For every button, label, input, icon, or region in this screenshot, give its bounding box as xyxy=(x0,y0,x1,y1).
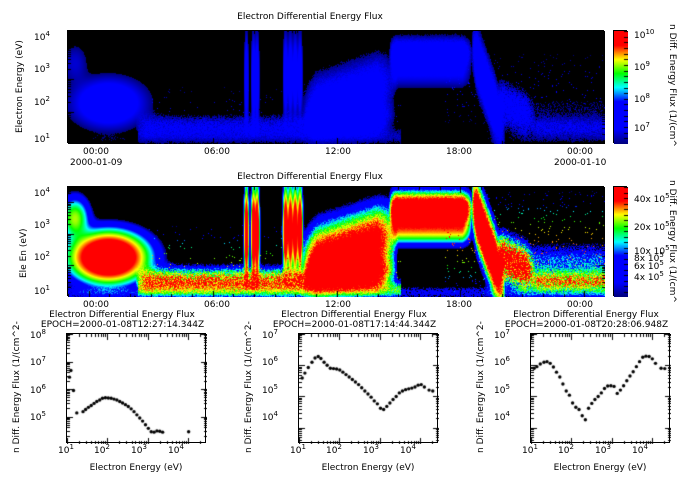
panel-spectrum-3-ylabel: n Diff. Energy Flux (1/(cm^2- xyxy=(477,321,486,453)
panel-spectrum-2-ylabel: n Diff. Energy Flux (1/(cm^2- xyxy=(245,321,254,453)
panel-spectrum-1-ylabel: n Diff. Energy Flux (1/(cm^2- xyxy=(13,321,22,453)
panel-spectrum-2-xtick-4: 104 xyxy=(400,447,416,456)
panel-top-ytick-1: 101 xyxy=(34,136,50,145)
panel-middle-ytick-3: 103 xyxy=(34,222,50,231)
panel-top-ylabel: Electron Energy (eV) xyxy=(16,40,25,133)
panel-top-xtick-1: 06:00 xyxy=(204,148,230,157)
panel-spectrum-1-ytick-8: 108 xyxy=(30,332,46,341)
panel-top-colorbar-label: n Diff. Energy Flux (1/(cm^ xyxy=(667,24,676,147)
panel-spectrum-3-ytick-6: 106 xyxy=(494,359,510,368)
panel-spectrum-3-xtick-1: 101 xyxy=(522,447,538,456)
panel-middle-colorbar-label: n Diff. Energy Flux (1/(cm^ xyxy=(667,180,676,303)
panel-spectrum-1-ytick-6: 106 xyxy=(30,387,46,396)
panel-spectrum-2-plot-area xyxy=(298,333,438,443)
panel-top-xtick-0: 00:00 xyxy=(83,148,109,157)
panel-middle-ytick-4: 104 xyxy=(34,190,50,199)
panel-spectrum-3-xlabel: Electron Energy (eV) xyxy=(520,463,680,473)
panel-middle-title: Electron Differential Energy Flux xyxy=(0,172,620,182)
panel-middle-cbtick-20: 20x 105 xyxy=(634,224,670,233)
panel-top: Electron Differential Energy Flux Electr… xyxy=(0,0,697,172)
panel-top-xtick-4: 00:00 xyxy=(567,148,593,157)
panel-spectrum-2-title: Electron Differential Energy Flux xyxy=(254,310,454,320)
panel-spectrum-3-plot-area xyxy=(530,333,670,443)
panel-spectrum-3: Electron Differential Energy Flux EPOCH=… xyxy=(464,305,697,492)
panel-spectrum-2-ytick-4: 104 xyxy=(262,414,278,423)
panel-top-cbtick-10: 1010 xyxy=(634,32,654,41)
panel-top-xtick-2: 12:00 xyxy=(325,148,351,157)
panel-top-title: Electron Differential Energy Flux xyxy=(0,12,620,22)
panel-top-plot-area xyxy=(67,30,604,143)
panel-spectrum-1-ytick-5: 105 xyxy=(30,414,46,423)
panel-top-cbtick-8: 108 xyxy=(634,96,650,105)
panel-top-colorbar xyxy=(613,30,627,143)
panel-spectrum-3-ytick-4: 104 xyxy=(494,414,510,423)
panel-spectrum-3-title: Electron Differential Energy Flux xyxy=(486,310,686,320)
panel-spectrum-3-xtick-2: 102 xyxy=(558,447,574,456)
panel-middle-cbtick-4: 4x 105 xyxy=(634,274,664,283)
panel-spectrum-2-ytick-7: 107 xyxy=(262,332,278,341)
panel-top-ytick-4: 104 xyxy=(34,34,50,43)
panel-spectrum-1-xlabel: Electron Energy (eV) xyxy=(56,463,216,473)
panel-top-cbtick-7: 107 xyxy=(634,125,650,134)
panel-spectrum-1-xtick-3: 103 xyxy=(131,447,147,456)
panel-spectrum-1-xtick-2: 102 xyxy=(94,447,110,456)
panel-spectrum-1-xtick-1: 101 xyxy=(58,447,74,456)
panel-spectrum-2: Electron Differential Energy Flux EPOCH=… xyxy=(232,305,464,492)
panel-middle: Electron Differential Energy Flux Ele En… xyxy=(0,160,697,320)
panel-top-ytick-3: 103 xyxy=(34,66,50,75)
panel-spectrum-3-xtick-4: 104 xyxy=(632,447,648,456)
panel-spectrum-2-xtick-3: 103 xyxy=(363,447,379,456)
panel-middle-ytick-2: 102 xyxy=(34,254,50,263)
panel-middle-ylabel: Ele En (eV) xyxy=(20,228,29,278)
panel-spectrum-1: Electron Differential Energy Flux EPOCH=… xyxy=(0,305,232,492)
panel-middle-colorbar xyxy=(613,186,627,296)
panel-spectrum-1-xtick-4: 104 xyxy=(168,447,184,456)
panel-spectrum-1-title: Electron Differential Energy Flux xyxy=(22,310,222,320)
panel-spectrum-1-ytick-7: 107 xyxy=(30,359,46,368)
panel-top-cbtick-9: 109 xyxy=(634,64,650,73)
panel-middle-cbtick-40: 40x 105 xyxy=(634,196,670,205)
panel-spectrum-3-ytick-7: 107 xyxy=(494,332,510,341)
panel-middle-plot-area xyxy=(67,186,604,296)
panel-spectrum-3-xtick-3: 103 xyxy=(595,447,611,456)
panel-spectrum-2-xtick-2: 102 xyxy=(326,447,342,456)
panel-spectrum-2-xtick-1: 101 xyxy=(290,447,306,456)
panel-spectrum-3-ytick-5: 105 xyxy=(494,387,510,396)
panel-spectrum-2-ytick-5: 105 xyxy=(262,387,278,396)
panel-top-xtick-3: 18:00 xyxy=(446,148,472,157)
panel-spectrum-2-xlabel: Electron Energy (eV) xyxy=(288,463,448,473)
panel-spectrum-2-ytick-6: 106 xyxy=(262,359,278,368)
panel-spectrum-1-plot-area xyxy=(66,333,206,443)
panel-middle-ytick-1: 101 xyxy=(34,288,50,297)
panel-top-ytick-2: 102 xyxy=(34,99,50,108)
